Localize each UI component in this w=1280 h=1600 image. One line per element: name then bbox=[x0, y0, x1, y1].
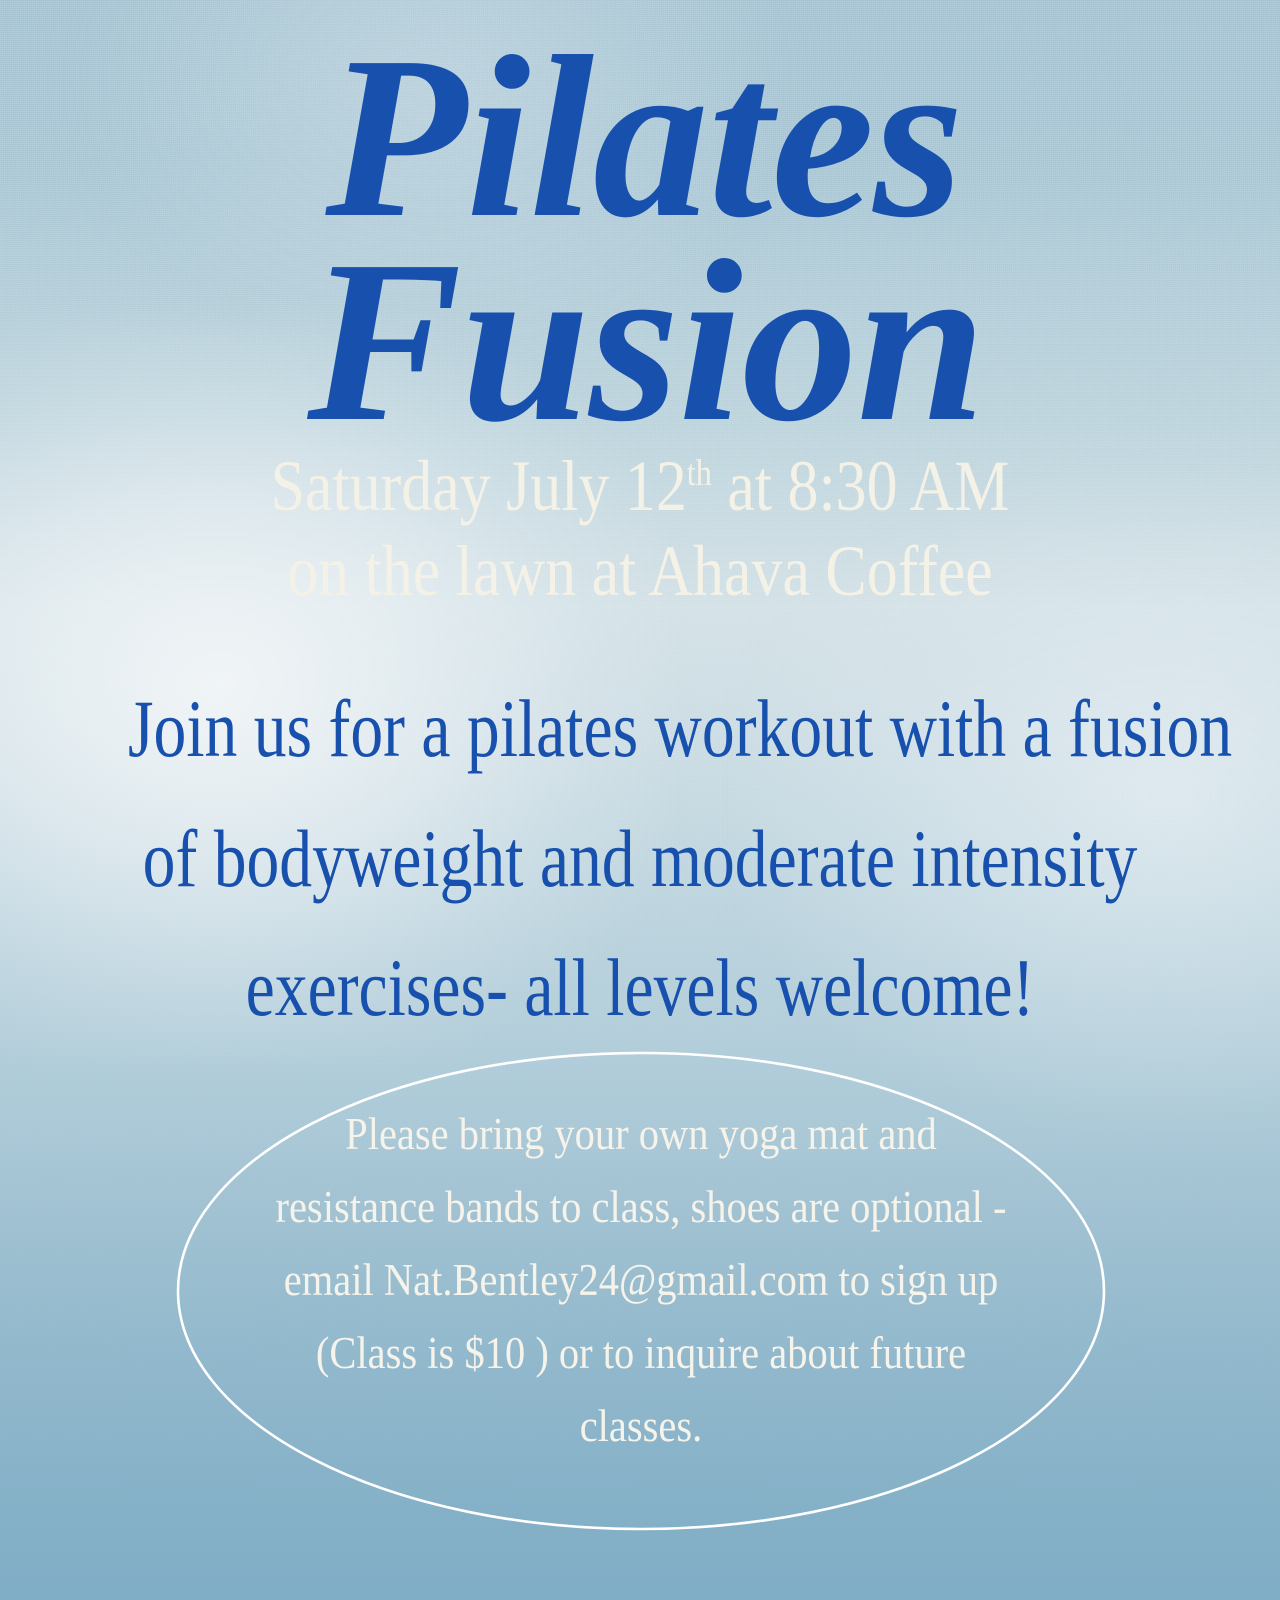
title-line-fusion: Fusion bbox=[12, 240, 1280, 444]
subtitle-time: at 8:30 AM bbox=[712, 446, 1010, 526]
poster-title: Pilates Fusion bbox=[0, 36, 1280, 444]
fine-print-line-3-email: email Nat.Bentley24@gmail.com to sign up bbox=[273, 1244, 1009, 1317]
subtitle-venue: on the lawn at Ahava Coffee bbox=[90, 529, 1191, 614]
fine-print-line-5: classes. bbox=[273, 1390, 1009, 1463]
poster-content: Pilates Fusion Saturday July 12th at 8:3… bbox=[0, 0, 1280, 1600]
subtitle-date-prefix: Saturday July 12 bbox=[271, 446, 687, 526]
poster-fine-print: Please bring your own yoga mat and resis… bbox=[273, 1098, 1009, 1462]
description-line-2: of bodyweight and moderate intensity bbox=[128, 794, 1152, 924]
fine-print-line-1: Please bring your own yoga mat and bbox=[273, 1098, 1009, 1171]
poster-canvas: Pilates Fusion Saturday July 12th at 8:3… bbox=[0, 0, 1280, 1600]
fine-print-line-2: resistance bands to class, shoes are opt… bbox=[273, 1171, 1009, 1244]
subtitle-date-ordinal-suffix: th bbox=[687, 453, 712, 494]
subtitle-date-time: Saturday July 12th at 8:30 AM bbox=[90, 444, 1191, 529]
poster-description: Join us for a pilates workout with a fus… bbox=[128, 664, 1152, 1053]
title-line-pilates: Pilates bbox=[8, 36, 1280, 240]
description-line-1: Join us for a pilates workout with a fus… bbox=[128, 664, 1152, 794]
fine-print-line-4-price: (Class is $10 ) or to inquire about futu… bbox=[273, 1317, 1009, 1390]
description-line-3: exercises- all levels welcome! bbox=[128, 923, 1152, 1053]
poster-subtitle: Saturday July 12th at 8:30 AM on the law… bbox=[90, 444, 1191, 614]
